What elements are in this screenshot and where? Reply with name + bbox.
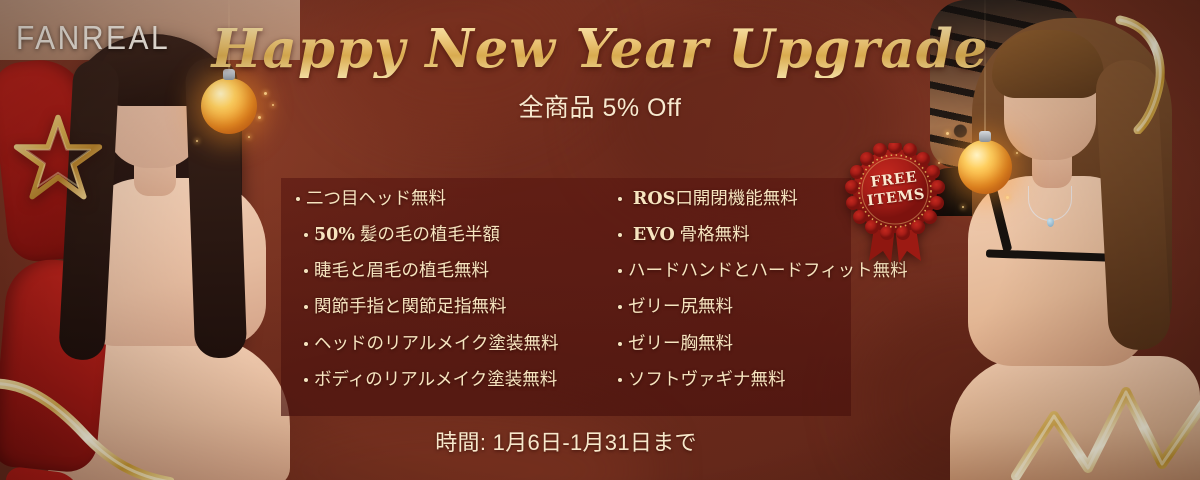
- right-model-pendant: [1047, 218, 1054, 227]
- feature-item: 50% 髪の毛の植毛半額: [296, 224, 596, 245]
- sparkle: [1016, 152, 1018, 154]
- feature-item: ヘッドのリアルメイク塗装無料: [296, 333, 596, 354]
- bullet-icon: [304, 342, 308, 346]
- bullet-icon: [618, 342, 622, 346]
- ornament-ball-right-sphere: [958, 140, 1012, 194]
- sparkle: [1006, 196, 1009, 199]
- headline-subtitle: 全商品 5% Off: [0, 88, 1200, 124]
- feature-text: ゼリー尻無料: [628, 296, 733, 316]
- sparkle: [946, 132, 949, 135]
- bullet-icon: [618, 269, 622, 273]
- promo-period-text: 時間: 1月6日-1月31日まで: [281, 425, 851, 457]
- feature-item: 睫毛と眉毛の植毛無料: [296, 260, 596, 281]
- ornament-cap-right: [979, 131, 991, 142]
- feature-item: ボディのリアルメイク塗装無料: [296, 369, 596, 390]
- feature-text: 関節手指と関節足指無料: [314, 296, 507, 316]
- bullet-icon: [304, 233, 308, 237]
- page-title: Happy New Year Upgrade: [0, 22, 1200, 78]
- feature-text: ヘッドのリアルメイク塗装無料: [314, 333, 558, 353]
- feature-emphasis: EVO: [633, 225, 675, 245]
- feature-item: ソフトヴァギナ無料: [618, 369, 948, 390]
- feature-text: 睫毛と眉毛の植毛無料: [314, 260, 489, 280]
- bullet-icon: [304, 269, 308, 273]
- feature-text: ボディのリアルメイク塗装無料: [314, 369, 557, 389]
- bullet-icon: [618, 378, 622, 382]
- feature-item: ゼリー尻無料: [618, 296, 948, 317]
- feature-text: 口開閉機能無料: [675, 188, 798, 208]
- headline-block: Happy New Year Upgrade 全商品 5% Off: [0, 22, 1200, 124]
- gold-star-decoration: [12, 112, 104, 204]
- bullet-icon: [304, 305, 308, 309]
- sparkle: [248, 136, 250, 138]
- feature-text: 骨格無料: [680, 224, 750, 244]
- feature-text: ゼリー胸無料: [628, 333, 733, 353]
- right-model-legs: [950, 356, 1200, 480]
- feature-text: 髪の毛の植毛半額: [360, 224, 500, 244]
- bullet-icon: [618, 197, 622, 201]
- bullet-icon: [304, 378, 308, 382]
- bullet-icon: [296, 197, 300, 201]
- feature-emphasis: ROS: [633, 189, 675, 209]
- feature-column-left: 二つ目ヘッド無料 50% 髪の毛の植毛半額 睫毛と眉毛の植毛無料 関節手指と関節…: [296, 188, 596, 405]
- sparkle: [962, 206, 964, 208]
- bullet-icon: [618, 305, 622, 309]
- feature-text: 二つ目ヘッド無料: [306, 188, 446, 208]
- ornament-ball-right: [958, 140, 1012, 194]
- feature-item: 二つ目ヘッド無料: [296, 188, 596, 209]
- bullet-icon: [618, 233, 622, 237]
- promo-banner: FANREAL Happy New Year Upgrade 全商品 5% Of…: [0, 0, 1200, 480]
- free-items-badge: FREE ITEMS: [845, 143, 945, 268]
- feature-text: ソフトヴァギナ無料: [628, 369, 786, 389]
- sparkle: [196, 140, 198, 142]
- feature-emphasis: 50%: [314, 225, 355, 245]
- feature-item: 関節手指と関節足指無料: [296, 296, 596, 317]
- feature-item: ゼリー胸無料: [618, 333, 948, 354]
